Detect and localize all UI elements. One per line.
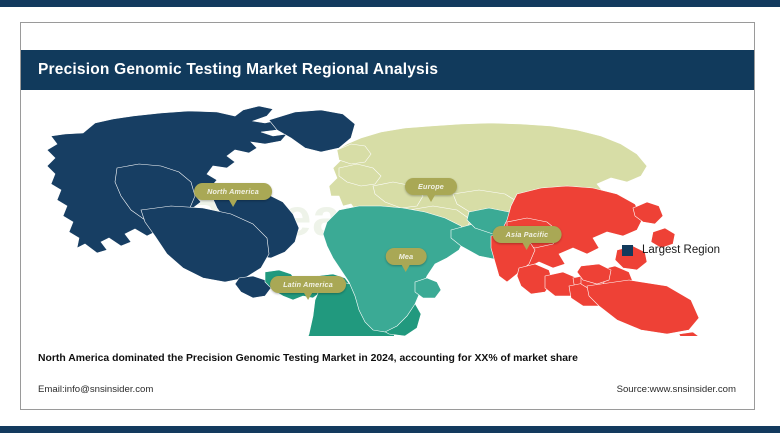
footer-email[interactable]: Email:info@snsinsider.com bbox=[38, 384, 153, 395]
world-map: Research Study bbox=[21, 90, 754, 336]
footer-source[interactable]: Source:www.snsinsider.com bbox=[617, 384, 736, 395]
summary-text: North America dominated the Precision Ge… bbox=[21, 353, 754, 364]
map-label-north-america[interactable]: North America bbox=[194, 183, 272, 207]
bottom-accent-bar bbox=[0, 426, 780, 433]
world-map-svg bbox=[21, 90, 754, 336]
legend-swatch-largest-region bbox=[622, 245, 633, 256]
map-label-latin-america[interactable]: Latin America bbox=[270, 276, 346, 300]
region-asia-pacific bbox=[491, 186, 701, 336]
map-label-pointer bbox=[402, 265, 410, 272]
footer: Email:info@snsinsider.com Source:www.sns… bbox=[21, 384, 754, 395]
map-label-asia-pacific[interactable]: Asia Pacific bbox=[493, 226, 562, 250]
map-label-pointer bbox=[427, 195, 435, 202]
legend-label-largest-region: Largest Region bbox=[642, 244, 720, 256]
map-label-pointer bbox=[304, 293, 312, 300]
infographic-root: Precision Genomic Testing Market Regiona… bbox=[0, 0, 780, 433]
map-label-mea-text: Mea bbox=[386, 248, 427, 265]
map-label-north-america-text: North America bbox=[194, 183, 272, 200]
map-label-pointer bbox=[523, 243, 531, 250]
legend: Largest Region bbox=[622, 244, 720, 256]
top-accent-bar bbox=[0, 0, 780, 7]
page-title: Precision Genomic Testing Market Regiona… bbox=[21, 61, 438, 79]
map-label-europe[interactable]: Europe bbox=[405, 178, 457, 202]
map-label-mea[interactable]: Mea bbox=[386, 248, 427, 272]
title-bar: Precision Genomic Testing Market Regiona… bbox=[21, 50, 754, 90]
map-label-pointer bbox=[229, 200, 237, 207]
map-label-asia-pacific-text: Asia Pacific bbox=[493, 226, 562, 243]
map-label-europe-text: Europe bbox=[405, 178, 457, 195]
map-label-latin-america-text: Latin America bbox=[270, 276, 346, 293]
infographic-card: Precision Genomic Testing Market Regiona… bbox=[20, 22, 755, 410]
